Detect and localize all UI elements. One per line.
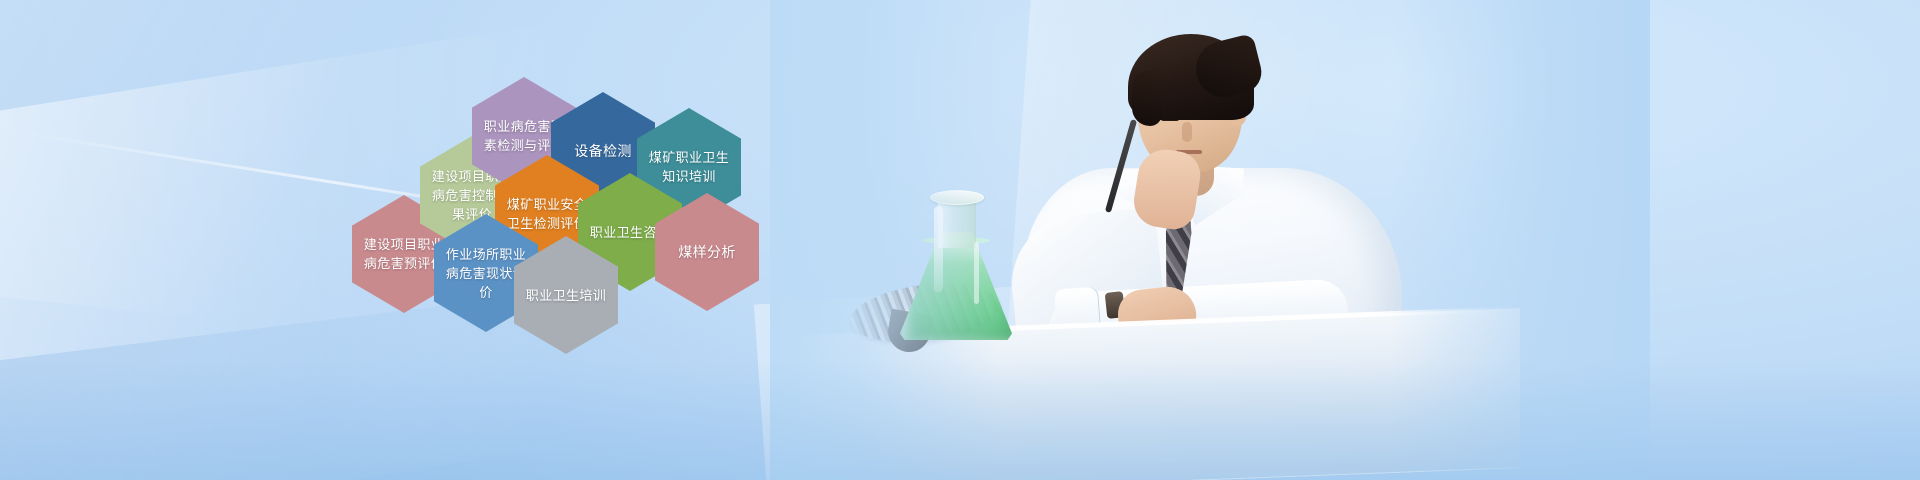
hexagon-label: 煤样分析 — [664, 243, 750, 262]
hexagon-label: 煤矿职业卫生知识培训 — [646, 148, 732, 186]
hair-side — [1132, 70, 1162, 126]
hero-banner: 建设项目职业病危害预评价建设项目职业病危害控制效果评价职业病危害因素检测与评价设… — [0, 0, 1920, 480]
nose — [1182, 122, 1192, 142]
hexagon-label: 煤矿职业安全卫生检测评价 — [504, 195, 590, 233]
service-hexagon-cluster: 建设项目职业病危害预评价建设项目职业病危害控制效果评价职业病危害因素检测与评价设… — [0, 0, 900, 400]
hexagon-label: 职业卫生培训 — [523, 286, 609, 305]
hexagon-label: 设备检测 — [560, 142, 646, 161]
